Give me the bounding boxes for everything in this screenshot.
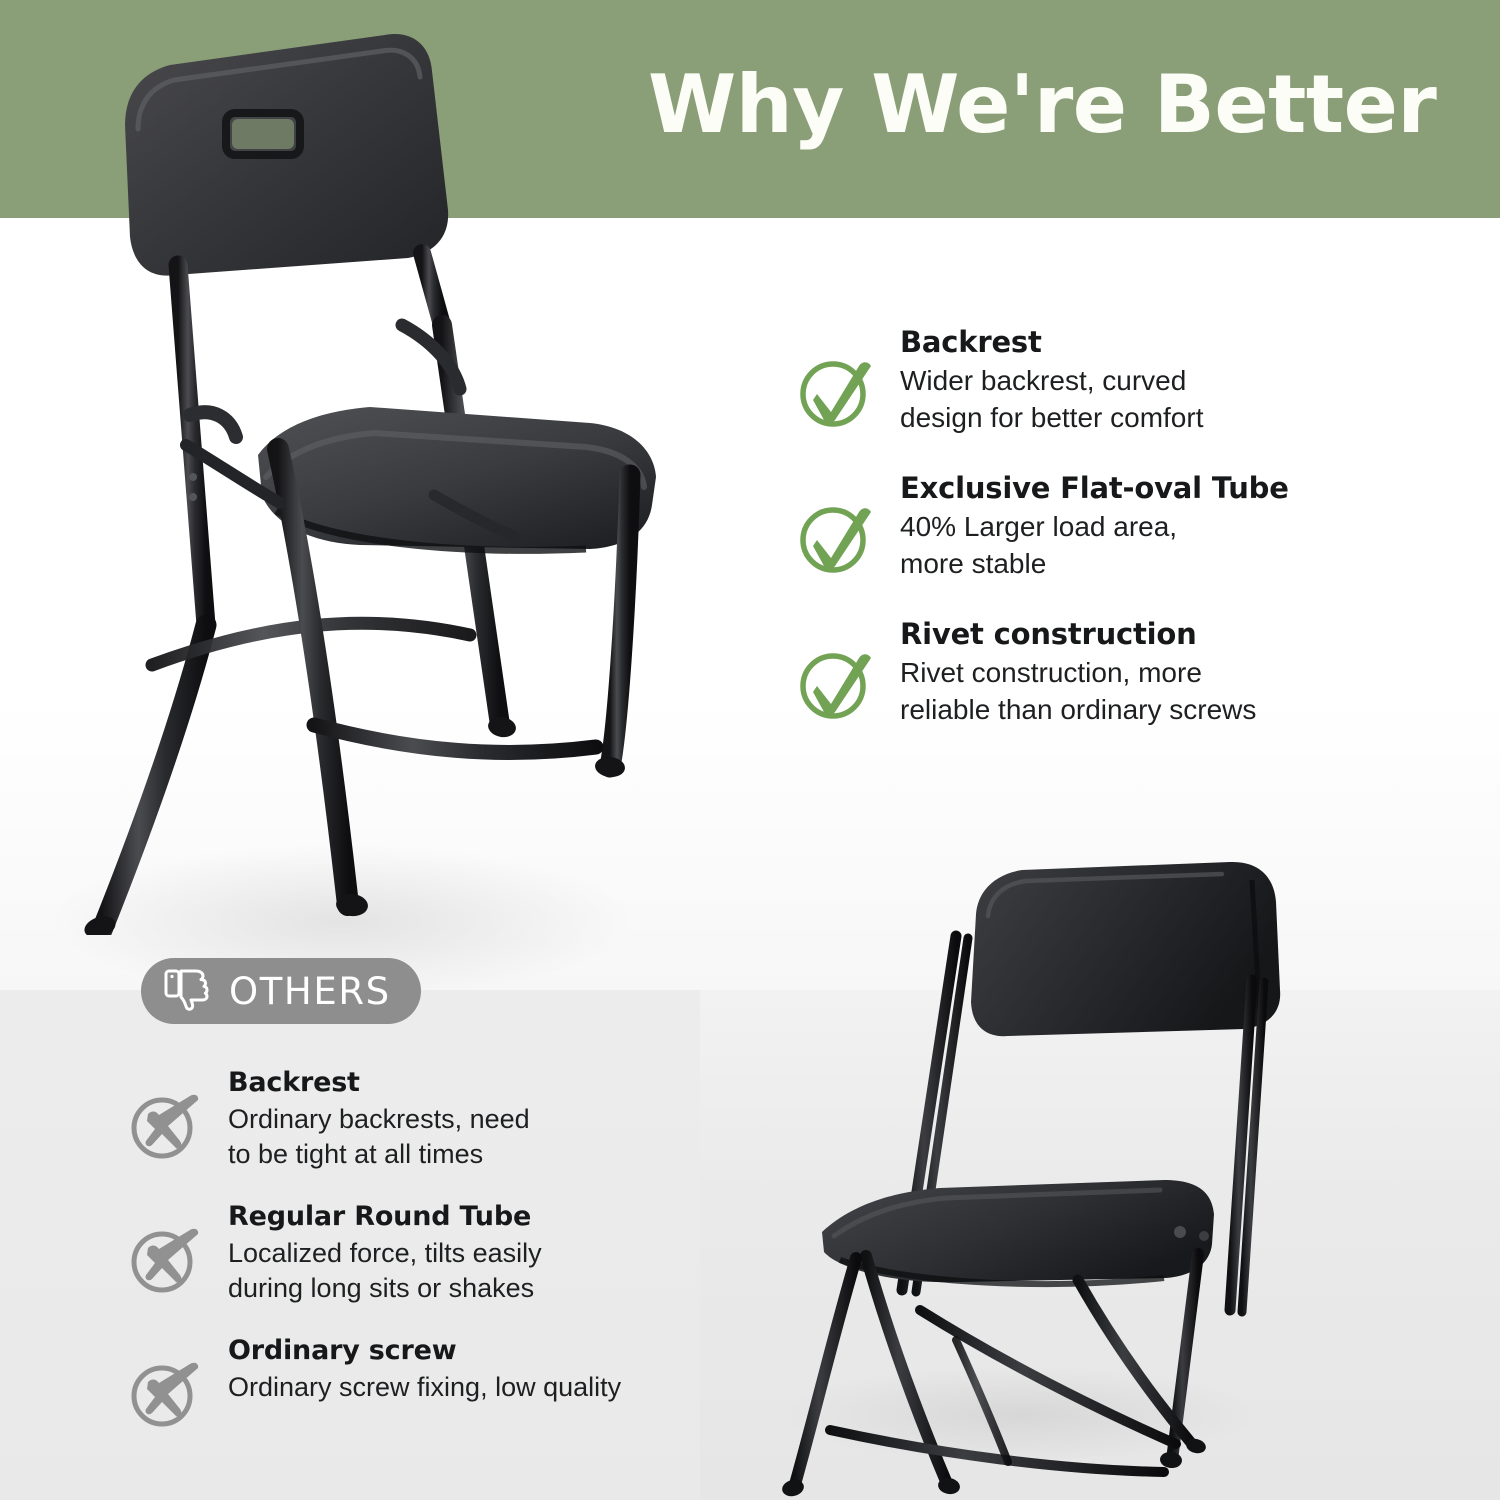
con-text: Localized force, tilts easily during lon… bbox=[228, 1236, 768, 1305]
infographic-canvas: Why We're Better Backrest Wider backrest… bbox=[0, 0, 1500, 1500]
check-circle-icon bbox=[795, 496, 875, 576]
con-heading: Regular Round Tube bbox=[228, 1202, 768, 1232]
pro-text: Rivet construction, more reliable than o… bbox=[900, 655, 1415, 728]
others-badge: OTHERS bbox=[141, 958, 421, 1024]
con-item: Regular Round Tube Localized force, tilt… bbox=[128, 1202, 768, 1314]
competitor-chair-image bbox=[760, 840, 1480, 1500]
con-text: Ordinary screw fixing, low quality bbox=[228, 1370, 768, 1405]
pro-item: Rivet construction Rivet construction, m… bbox=[795, 618, 1415, 736]
pro-heading: Exclusive Flat-oval Tube bbox=[900, 472, 1415, 504]
con-text: Ordinary backrests, need to be tight at … bbox=[228, 1102, 768, 1171]
con-item: Backrest Ordinary backrests, need to be … bbox=[128, 1068, 768, 1180]
pro-text: 40% Larger load area, more stable bbox=[900, 509, 1415, 582]
pros-list: Backrest Wider backrest, curved design f… bbox=[795, 326, 1415, 736]
featured-chair-image bbox=[30, 25, 690, 935]
page-title: Why We're Better bbox=[648, 58, 1436, 151]
others-label: OTHERS bbox=[229, 970, 391, 1013]
con-item: Ordinary screw Ordinary screw fixing, lo… bbox=[128, 1336, 768, 1448]
pro-item: Exclusive Flat-oval Tube 40% Larger load… bbox=[795, 472, 1415, 590]
pro-item: Backrest Wider backrest, curved design f… bbox=[795, 326, 1415, 444]
pro-heading: Rivet construction bbox=[900, 618, 1415, 650]
pro-text: Wider backrest, curved design for better… bbox=[900, 363, 1415, 436]
x-circle-icon bbox=[128, 1088, 202, 1162]
thumbs-down-icon bbox=[163, 967, 209, 1016]
x-circle-icon bbox=[128, 1222, 202, 1296]
con-heading: Backrest bbox=[228, 1068, 768, 1098]
check-circle-icon bbox=[795, 642, 875, 722]
check-circle-icon bbox=[795, 350, 875, 430]
x-circle-icon bbox=[128, 1356, 202, 1430]
pro-heading: Backrest bbox=[900, 326, 1415, 358]
con-heading: Ordinary screw bbox=[228, 1336, 768, 1366]
cons-list: Backrest Ordinary backrests, need to be … bbox=[128, 1068, 768, 1448]
